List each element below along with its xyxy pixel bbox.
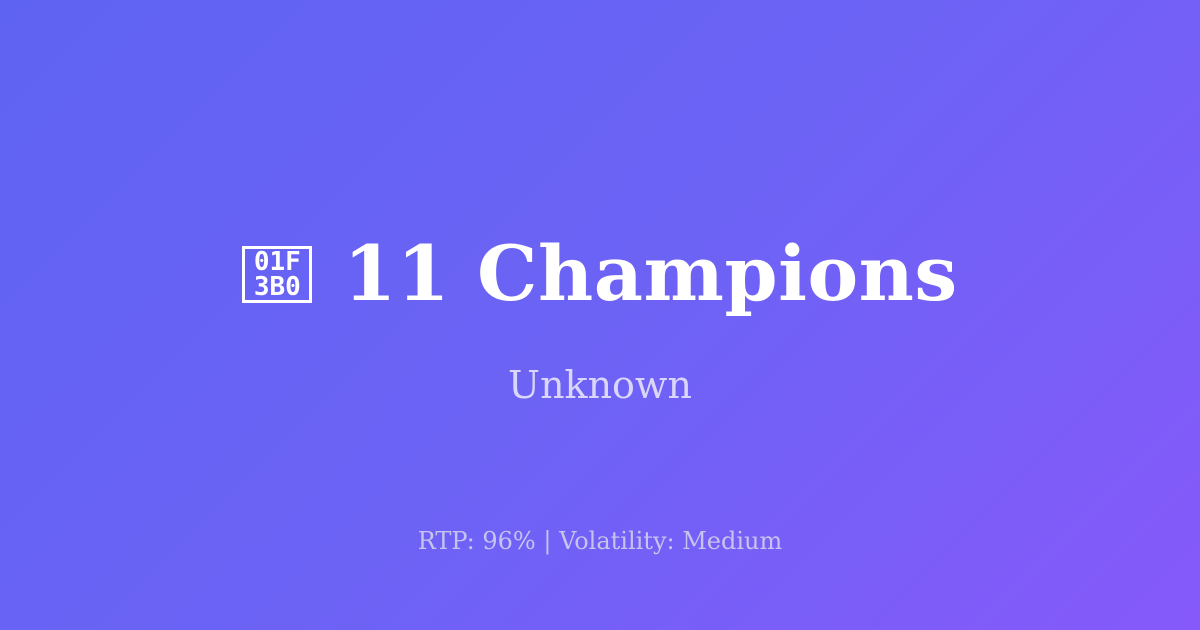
slot-machine-tofu-glyph-icon: 01F 3B0 xyxy=(242,246,312,303)
tofu-hex-bottom: 3B0 xyxy=(254,275,301,300)
game-preview-card: 01F 3B0 11 Champions Unknown RTP: 96% | … xyxy=(0,0,1200,630)
tofu-hex-top: 01F xyxy=(254,250,301,275)
provider-name: Unknown xyxy=(0,366,1200,404)
title-row: 01F 3B0 11 Champions xyxy=(0,236,1200,312)
game-meta-line: RTP: 96% | Volatility: Medium xyxy=(0,529,1200,553)
game-title: 11 Champions xyxy=(343,236,957,312)
